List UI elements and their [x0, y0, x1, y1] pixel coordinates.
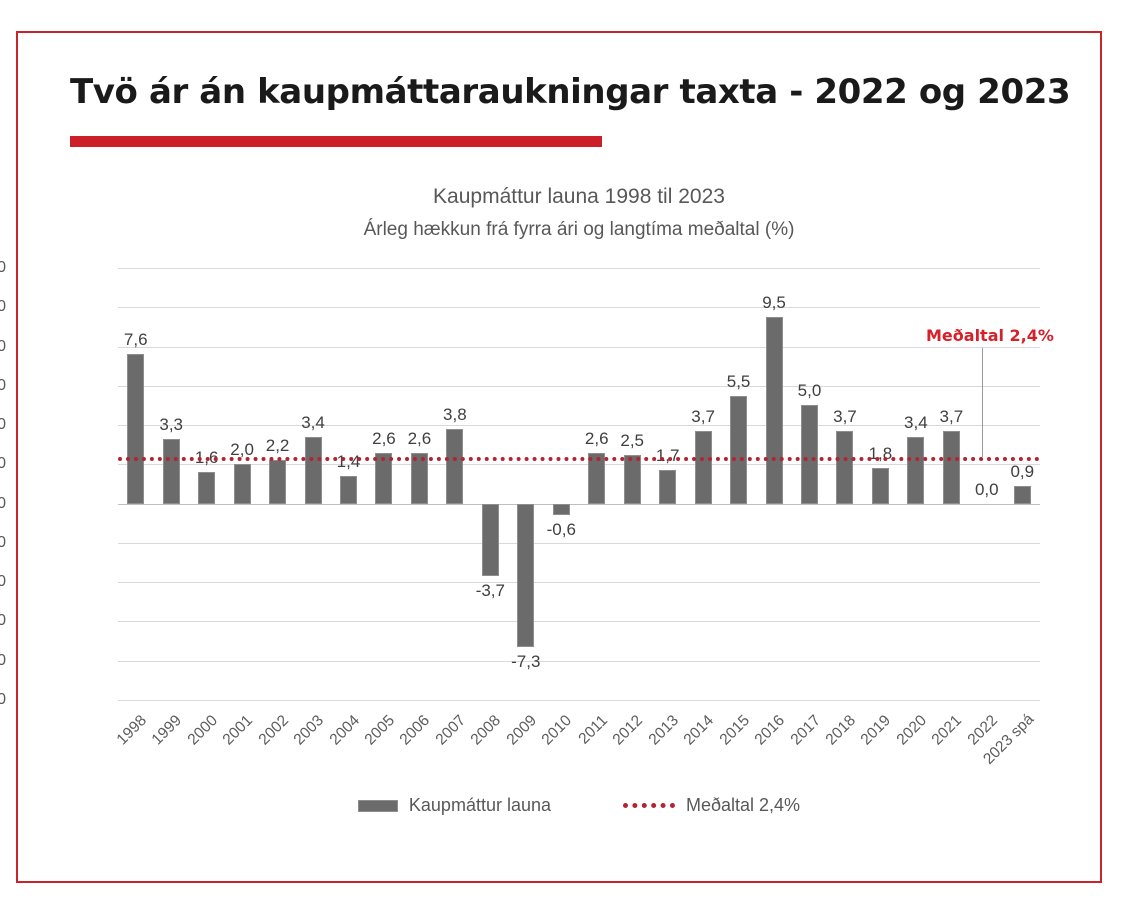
bar-value-label: 5,5: [717, 372, 761, 392]
average-callout-label: Meðaltal 2,4%: [926, 326, 1054, 345]
y-axis-tick-label: 6,0: [0, 377, 6, 395]
bar-2001: [234, 464, 251, 503]
legend-dotted-line-icon: [623, 803, 675, 808]
legend-item-bars: Kaupmáttur launa: [358, 795, 551, 816]
bar-value-label: 2,2: [256, 436, 300, 456]
y-axis-tick-label: -2,0: [0, 534, 6, 552]
bar-2015: [730, 396, 747, 504]
bar-2003: [305, 437, 322, 504]
bar-2020: [907, 437, 924, 504]
gridline: [118, 386, 1040, 387]
bar-2009: [517, 504, 534, 647]
bar-value-label: 1,4: [327, 452, 371, 472]
gridline: [118, 543, 1040, 544]
bar-2008: [482, 504, 499, 577]
bar-value-label: -0,6: [539, 520, 583, 540]
y-axis-tick-label: -4,0: [0, 573, 6, 591]
legend-label-bars: Kaupmáttur launa: [409, 795, 551, 816]
bar-value-label: 9,5: [752, 293, 796, 313]
bar-value-label: 3,7: [681, 407, 725, 427]
chart-plot-area: 12,010,08,06,04,02,00,0-2,0-4,0-6,0-8,0-…: [118, 268, 1040, 700]
legend-item-average: Meðaltal 2,4%: [623, 795, 800, 816]
bar-value-label: 3,7: [929, 407, 973, 427]
y-axis-tick-label: -10,0: [0, 691, 6, 709]
bar-value-label: 3,8: [433, 405, 477, 425]
bar-2023-spá: [1014, 486, 1031, 504]
gridline: [118, 307, 1040, 308]
bar-2021: [943, 431, 960, 504]
y-axis-tick-label: 0,0: [0, 495, 6, 513]
gridline: [118, 347, 1040, 348]
slide: Tvö ár án kaupmáttaraukningar taxta - 20…: [0, 0, 1122, 912]
chart-kaupmattur-launa: Kaupmáttur launa 1998 til 2023 Árleg hæk…: [0, 0, 1122, 912]
bar-value-label: -7,3: [504, 652, 548, 672]
bar-value-label: 3,3: [149, 415, 193, 435]
bar-value-label: 5,0: [788, 381, 832, 401]
bar-2018: [836, 431, 853, 504]
bar-2013: [659, 470, 676, 503]
zero-baseline: [118, 504, 1040, 505]
bar-2017: [801, 405, 818, 503]
bar-1999: [163, 439, 180, 504]
bar-1998: [127, 354, 144, 503]
bar-value-label: 3,7: [823, 407, 867, 427]
gridline: [118, 661, 1040, 662]
legend-bar-swatch-icon: [358, 800, 398, 812]
y-axis-tick-label: 8,0: [0, 338, 6, 356]
chart-legend: Kaupmáttur launa Meðaltal 2,4%: [118, 795, 1040, 816]
gridline: [118, 582, 1040, 583]
bar-2000: [198, 472, 215, 503]
gridline: [118, 268, 1040, 269]
legend-label-average: Meðaltal 2,4%: [686, 795, 800, 816]
bar-value-label: -3,7: [468, 581, 512, 601]
bar-2014: [695, 431, 712, 504]
bar-2012: [624, 455, 641, 504]
y-axis-tick-label: 4,0: [0, 416, 6, 434]
bar-2007: [446, 429, 463, 504]
chart-title: Kaupmáttur launa 1998 til 2023: [118, 185, 1040, 209]
bar-2010: [553, 504, 570, 516]
gridline: [118, 464, 1040, 465]
y-axis-tick-label: 12,0: [0, 259, 6, 277]
gridline: [118, 621, 1040, 622]
average-callout-leader-line: [982, 348, 983, 457]
bar-value-label: 3,4: [291, 413, 335, 433]
gridline: [118, 700, 1040, 701]
average-line: [118, 457, 1040, 461]
bar-value-label: 0,0: [965, 480, 1009, 500]
bar-value-label: 1,8: [858, 444, 902, 464]
bar-2004: [340, 476, 357, 503]
bar-2002: [269, 460, 286, 503]
y-axis-tick-label: -8,0: [0, 652, 6, 670]
bar-2019: [872, 468, 889, 503]
y-axis-tick-label: 2,0: [0, 455, 6, 473]
bar-value-label: 7,6: [114, 330, 158, 350]
bar-value-label: 2,6: [397, 429, 441, 449]
bar-value-label: 0,9: [1000, 462, 1044, 482]
bar-2016: [766, 317, 783, 504]
chart-subtitle: Árleg hækkun frá fyrra ári og langtíma m…: [118, 219, 1040, 241]
y-axis-tick-label: 10,0: [0, 298, 6, 316]
y-axis-tick-label: -6,0: [0, 612, 6, 630]
